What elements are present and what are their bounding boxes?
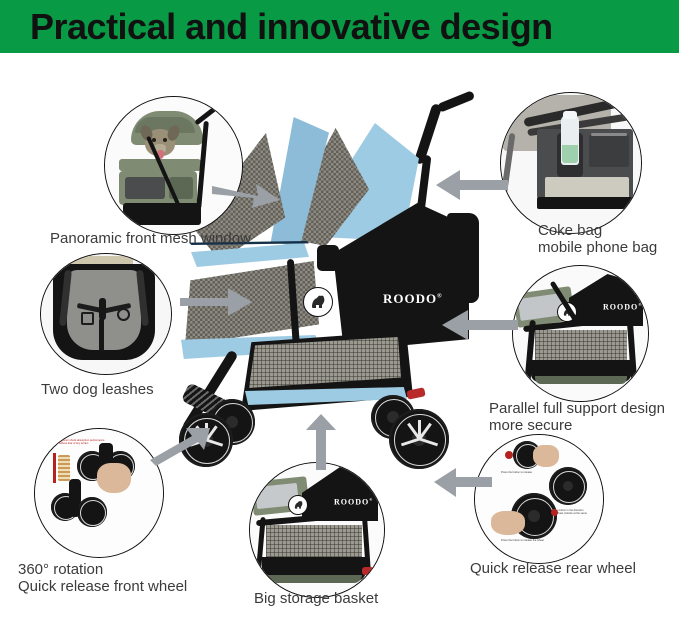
callout-panoramic-front-mesh-window[interactable] [104, 96, 243, 235]
rear-wheel-note-3: Press the button to release the wheel [501, 539, 545, 542]
release-button-red [505, 451, 513, 459]
arrow-to-front-window [210, 174, 284, 214]
leash-buckle-right [117, 308, 130, 321]
arrow-to-parallel-support [440, 308, 520, 342]
callout-3-photo: Superior shock absorption performance wi… [35, 429, 163, 557]
callout-parallel-full-support[interactable]: ROODO® [512, 265, 649, 402]
release-button-red-2 [551, 509, 558, 516]
rear-wheel-note-1: Press the button to release [501, 471, 539, 474]
hand-holding-front-wheel [97, 463, 131, 493]
dog-logo-tag [303, 287, 333, 317]
leash-center-clip [99, 298, 106, 320]
pocket-zipper [591, 133, 627, 136]
spring-diagram [58, 455, 70, 481]
brand-superscript: ® [437, 294, 442, 300]
caption-quick-release-rear-wheel: Quick release rear wheel [470, 560, 679, 577]
arrow-to-leashes [178, 286, 254, 320]
rear-storage-bag [447, 213, 479, 303]
arrow-to-front-wheel [148, 424, 212, 468]
caption-panoramic-front-mesh-window: Panoramic front mesh window [50, 230, 280, 247]
bag-bottom-edge [537, 197, 633, 209]
infographic-page: Practical and innovative design ROODO® [0, 0, 679, 631]
big-basket-trim [266, 575, 362, 583]
caption-two-dog-leashes: Two dog leashes [41, 381, 241, 398]
caption-big-storage-basket: Big storage basket [254, 590, 454, 607]
hand-top [533, 445, 559, 467]
bottle-liquid [562, 145, 578, 163]
brand-superscript-3: ® [369, 497, 373, 502]
brand-label-callout7: ROODO® [334, 497, 373, 507]
basket-mesh-callout5 [535, 330, 627, 362]
page-title: Practical and innovative design [30, 6, 553, 48]
callout-4-photo [501, 93, 641, 233]
demo-wheel-lower-right [77, 497, 107, 527]
arrow-to-coke-bag [434, 168, 510, 204]
dog-logo-icon-3 [293, 500, 304, 510]
phone-pocket [589, 135, 629, 167]
dog-logo-tag-callout7 [288, 495, 308, 515]
callout-two-dog-leashes[interactable] [40, 253, 172, 375]
brand-label-main: ROODO® [383, 291, 443, 307]
caption-coke-bag: Coke bag mobile phone bag [538, 222, 679, 256]
header-band: Practical and innovative design [0, 0, 679, 53]
basket-release-red [362, 567, 374, 575]
dog-logo-icon [309, 294, 327, 310]
rear-wheel-near [389, 409, 449, 469]
callout-360-rotation-front-wheel[interactable]: Superior shock absorption performance wi… [34, 428, 164, 558]
arrow-to-rear-wheel [432, 466, 494, 500]
stroller-basket-olive [123, 203, 201, 225]
callout-7-photo: ROODO® [250, 463, 384, 597]
callout-big-storage-basket[interactable]: ROODO® [249, 462, 385, 598]
demo-axle-lower-stem [71, 501, 79, 517]
rear-wheel-demo-center [549, 467, 587, 505]
big-basket-mesh [266, 525, 362, 559]
basket-trim-callout5 [535, 376, 627, 384]
brand-superscript-2: ® [638, 302, 642, 307]
bottle-cap [563, 111, 577, 119]
hand-bottom [491, 511, 525, 535]
rear-wheel-demo-bottom-hub [528, 510, 540, 522]
caption-parallel-full-support: Parallel full support design more secure [489, 400, 679, 434]
brand-text-3: ROODO [334, 498, 369, 507]
dog-eye-right [163, 138, 167, 142]
callout-coke-bag[interactable] [500, 92, 642, 234]
rear-wheel-demo-center-hub [563, 481, 573, 491]
arrow-to-storage-basket [304, 412, 338, 472]
caption-360-rotation-front-wheel: 360° rotation Quick release front wheel [18, 561, 248, 595]
callout-5-photo: ROODO® [513, 266, 648, 401]
callout-6-photo: Press the button to release Press the bu… [475, 435, 603, 563]
brand-text-2: ROODO [603, 303, 638, 312]
spring-diagram-arrow [53, 453, 56, 483]
brand-label-callout5: ROODO® [603, 302, 642, 312]
demo-wheel-lower-right-rim [80, 500, 106, 526]
leash-tail [99, 318, 104, 352]
handle-grip [437, 90, 476, 113]
leash-buckle-left [81, 312, 94, 325]
callout-2-photo [41, 254, 171, 374]
cabin-mesh-window [125, 177, 165, 199]
brand-text: ROODO [383, 291, 437, 306]
